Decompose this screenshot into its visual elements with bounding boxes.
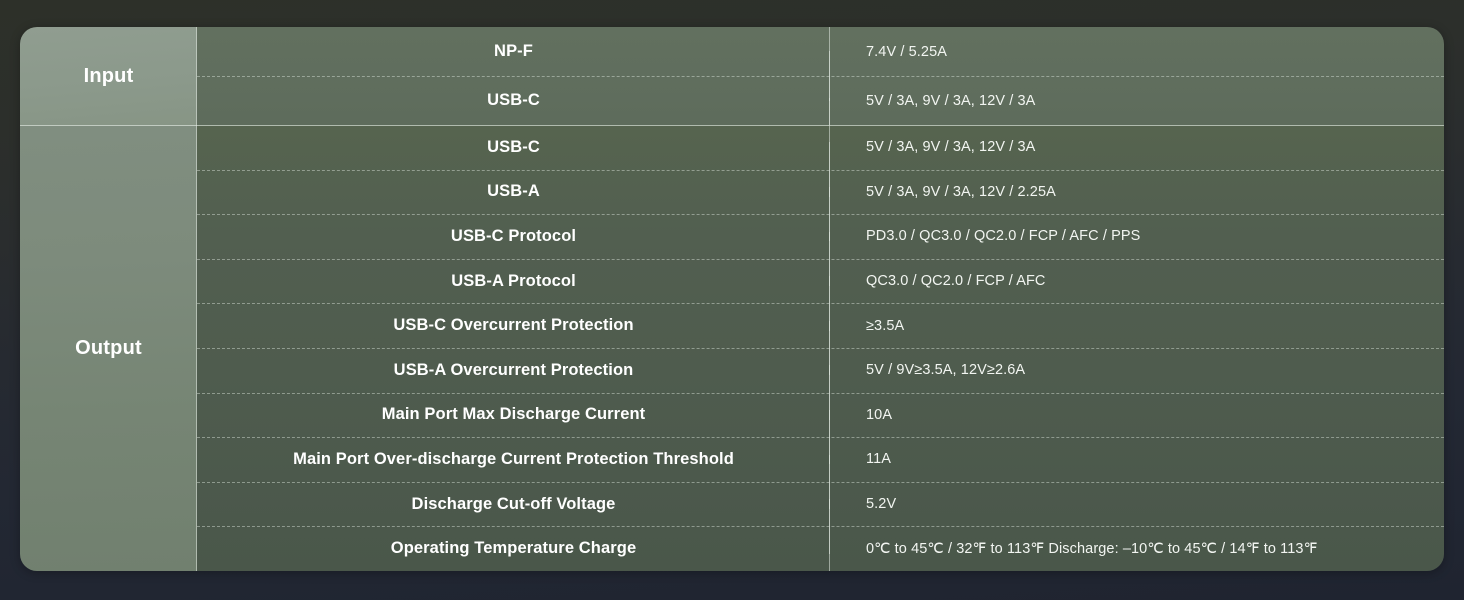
row-value: 0℃ to 45℃ / 32℉ to 113℉ Discharge: –10℃ … xyxy=(830,541,1444,557)
row-label: USB-C Overcurrent Protection xyxy=(197,316,830,335)
table-row: Main Port Over-discharge Current Protect… xyxy=(197,437,1444,482)
row-value: 5V / 3A, 9V / 3A, 12V / 2.25A xyxy=(830,184,1444,200)
row-label: USB-C xyxy=(197,138,830,157)
table-row: USB-C Overcurrent Protection ≥3.5A xyxy=(197,303,1444,348)
row-value: 5V / 9V≥3.5A, 12V≥2.6A xyxy=(830,362,1444,378)
row-value: 5V / 3A, 9V / 3A, 12V / 3A xyxy=(830,93,1444,109)
row-group-input: NP-F 7.4V / 5.25A USB-C 5V / 3A, 9V / 3A… xyxy=(197,27,1444,125)
row-label: USB-C xyxy=(197,91,830,110)
category-cell-output: Output xyxy=(20,125,197,571)
table-row: USB-C 5V / 3A, 9V / 3A, 12V / 3A xyxy=(197,125,1444,170)
table-row: USB-A Protocol QC3.0 / QC2.0 / FCP / AFC xyxy=(197,259,1444,304)
row-label: USB-A Overcurrent Protection xyxy=(197,361,830,380)
table-row: Main Port Max Discharge Current 10A xyxy=(197,393,1444,438)
table-section-output: Output USB-C 5V / 3A, 9V / 3A, 12V / 3A … xyxy=(20,125,1444,571)
row-value: ≥3.5A xyxy=(830,318,1444,334)
table-row: Operating Temperature Charge 0℃ to 45℃ /… xyxy=(197,526,1444,571)
table-row: USB-A Overcurrent Protection 5V / 9V≥3.5… xyxy=(197,348,1444,393)
table-section-input: Input NP-F 7.4V / 5.25A USB-C 5V / 3A, 9… xyxy=(20,27,1444,125)
row-group-output: USB-C 5V / 3A, 9V / 3A, 12V / 3A USB-A 5… xyxy=(197,125,1444,571)
row-label: Main Port Max Discharge Current xyxy=(197,405,830,424)
row-value: 11A xyxy=(830,451,1444,467)
table-row: USB-C Protocol PD3.0 / QC3.0 / QC2.0 / F… xyxy=(197,214,1444,259)
row-value: 7.4V / 5.25A xyxy=(830,44,1444,60)
row-label: NP-F xyxy=(197,42,830,61)
table-row: NP-F 7.4V / 5.25A xyxy=(197,27,1444,76)
table-row: USB-A 5V / 3A, 9V / 3A, 12V / 2.25A xyxy=(197,170,1444,215)
row-value: PD3.0 / QC3.0 / QC2.0 / FCP / AFC / PPS xyxy=(830,228,1444,244)
table-row: Discharge Cut-off Voltage 5.2V xyxy=(197,482,1444,527)
category-label-input: Input xyxy=(84,65,134,88)
table-row: USB-C 5V / 3A, 9V / 3A, 12V / 3A xyxy=(197,76,1444,125)
row-label: Operating Temperature Charge xyxy=(197,539,830,558)
specification-table: Input NP-F 7.4V / 5.25A USB-C 5V / 3A, 9… xyxy=(20,27,1444,571)
row-value: 5V / 3A, 9V / 3A, 12V / 3A xyxy=(830,139,1444,155)
row-label: Discharge Cut-off Voltage xyxy=(197,495,830,514)
category-label-output: Output xyxy=(75,337,142,360)
row-label: USB-A xyxy=(197,182,830,201)
row-value: 5.2V xyxy=(830,496,1444,512)
row-label: Main Port Over-discharge Current Protect… xyxy=(197,450,830,469)
row-label: USB-A Protocol xyxy=(197,272,830,291)
category-cell-input: Input xyxy=(20,27,197,125)
row-value: QC3.0 / QC2.0 / FCP / AFC xyxy=(830,273,1444,289)
row-value: 10A xyxy=(830,407,1444,423)
row-label: USB-C Protocol xyxy=(197,227,830,246)
